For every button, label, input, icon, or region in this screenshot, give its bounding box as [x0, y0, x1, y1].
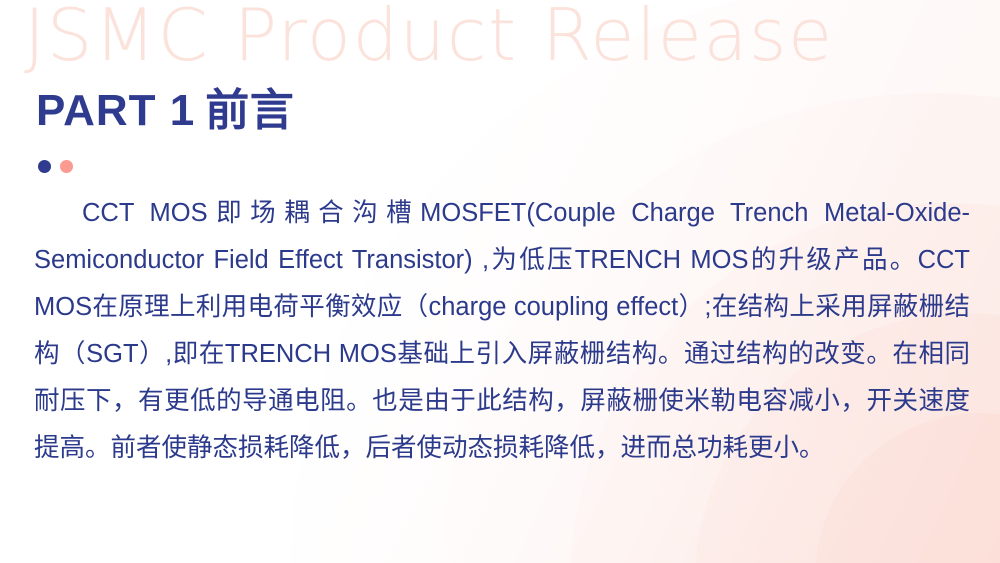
- part-number-label: PART 1: [36, 86, 195, 135]
- page-title: PART 1前言: [36, 88, 294, 134]
- salmon-dot-icon: [60, 160, 73, 173]
- slide-canvas: JSMC Product Release PART 1前言 CCT MOS即场耦…: [0, 0, 1000, 563]
- navy-dot-icon: [38, 160, 51, 173]
- watermark-title: JSMC Product Release: [24, 0, 834, 77]
- part-title-cn: 前言: [205, 86, 294, 135]
- body-paragraph: CCT MOS即场耦合沟槽MOSFET(Couple Charge Trench…: [34, 190, 970, 472]
- dots-divider: [38, 160, 73, 173]
